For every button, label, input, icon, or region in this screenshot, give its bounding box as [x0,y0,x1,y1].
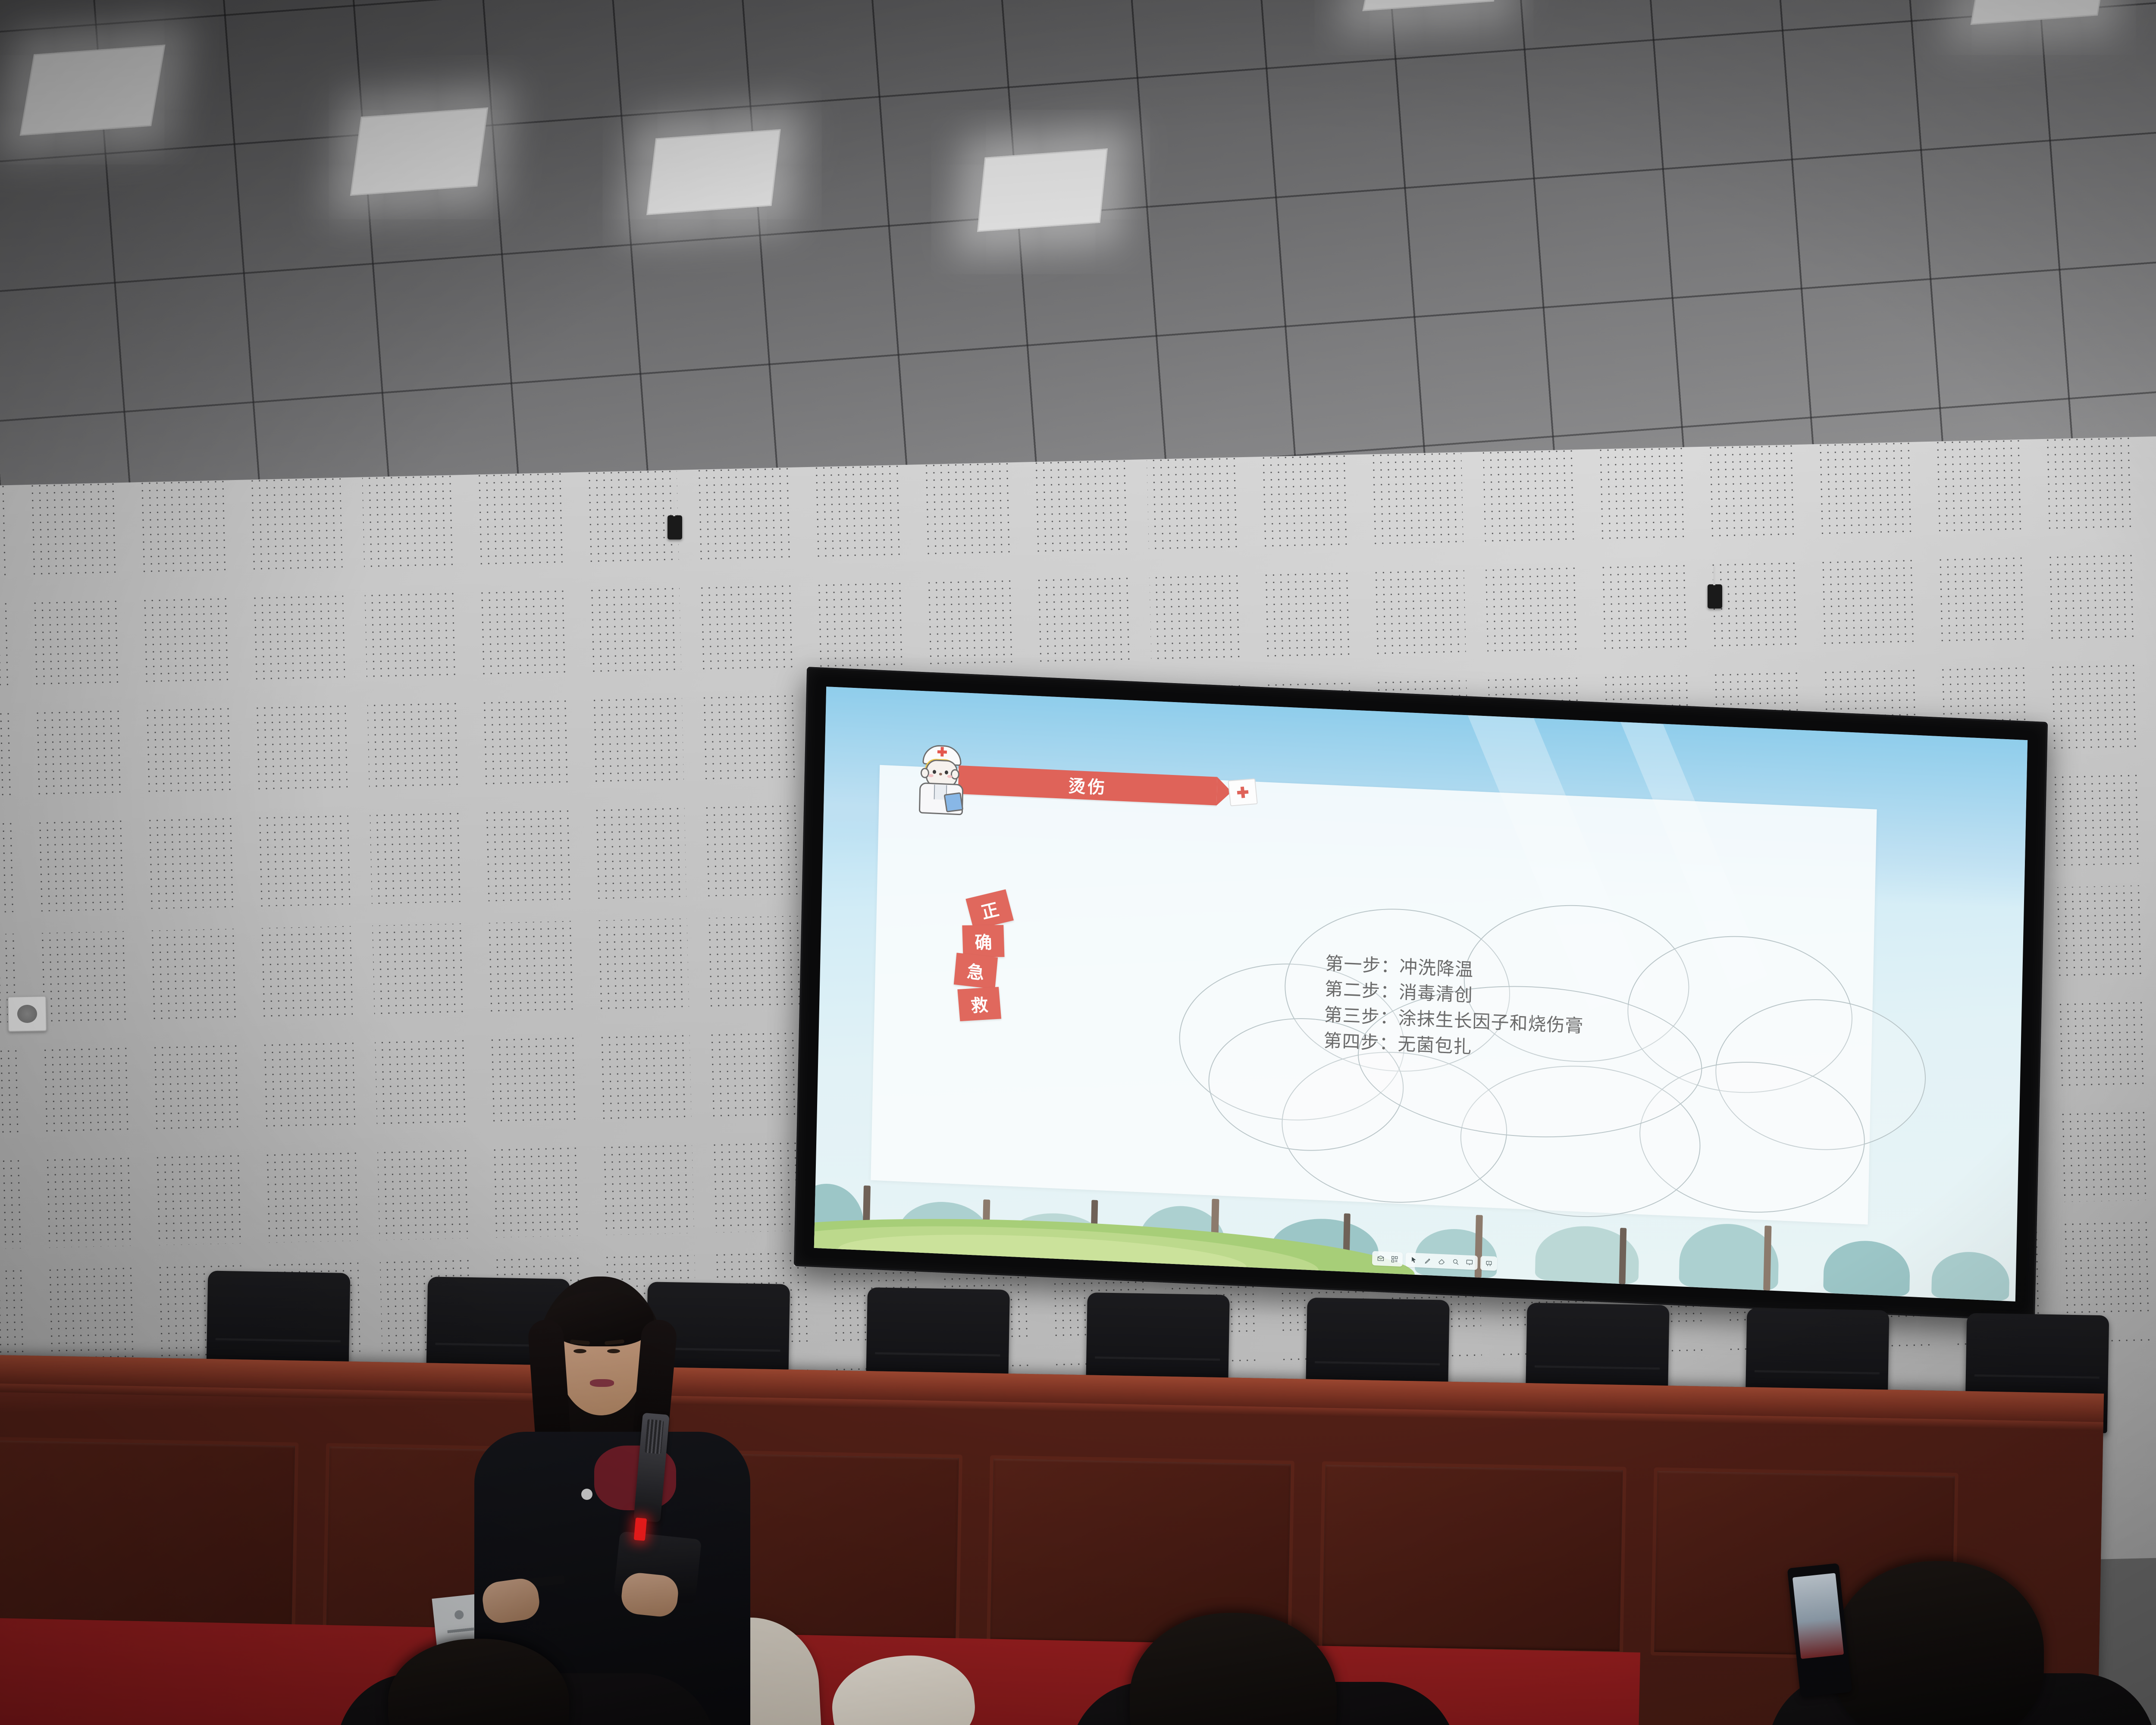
vertical-label-group: 正 确 急 救 [957,895,1016,1022]
audience-head-right [1833,1561,2044,1725]
pen-icon[interactable] [1421,1255,1434,1267]
slide-canvas: 烫伤 正 确 急 救 第一步：冲洗降温 第二步：消毒清创 第三步：涂抹生长因子和… [814,687,2028,1302]
vertical-label-tile-3: 急 [953,953,997,989]
cursor-icon[interactable] [1407,1255,1420,1266]
wall-speaker-left [7,996,47,1032]
vertical-label-tile-2: 确 [962,925,1004,957]
medical-cross-icon [1228,778,1258,806]
qr-code-icon[interactable] [1388,1254,1401,1265]
slide-title-text: 烫伤 [1068,772,1107,799]
presenter-eye-left [573,1349,586,1353]
nurse-character-icon [914,744,966,813]
vertical-label-tile-1: 正 [965,889,1014,930]
ceiling-camera-left [667,515,682,539]
microphone-led-indicator [634,1518,647,1541]
presenter-hair-fringe [548,1291,654,1346]
vertical-label-tile-4: 救 [957,987,1001,1021]
nurse-eye-right [945,770,948,774]
presenter-badge [581,1489,592,1500]
slide-title-banner: 烫伤 [958,765,1217,806]
presenter-eye-right [607,1349,620,1353]
screenshot-root: 烫伤 正 确 急 救 第一步：冲洗降温 第二步：消毒清创 第三步：涂抹生长因子和… [0,0,2156,1725]
nurse-eye-left [933,770,936,774]
eraser-icon[interactable] [1435,1255,1448,1267]
desk-panel-5 [1319,1461,1626,1655]
presentation-screen[interactable]: 烫伤 正 确 急 救 第一步：冲洗降温 第二步：消毒清创 第三步：涂抹生长因子和… [794,667,2048,1321]
presenter-lips [590,1379,614,1387]
nurse-cheek-right [947,775,953,778]
cross-glyph [1237,786,1249,798]
slide-steps-list: 第一步：冲洗降温 第二步：消毒清创 第三步：涂抹生长因子和烧伤膏 第四步：无菌包… [1323,950,1585,1065]
desk-panel-1 [0,1437,298,1631]
ceiling-camera-center [1708,584,1722,608]
toolbar-group-file[interactable] [1372,1251,1403,1267]
nurse-ear-left [921,768,930,778]
nurse-nose [939,773,942,775]
nurse-ear-right [951,769,960,780]
nurse-clipboard-icon [944,792,964,812]
annotation-save-icon[interactable] [1374,1253,1387,1264]
nurse-cheek-left [928,774,934,777]
